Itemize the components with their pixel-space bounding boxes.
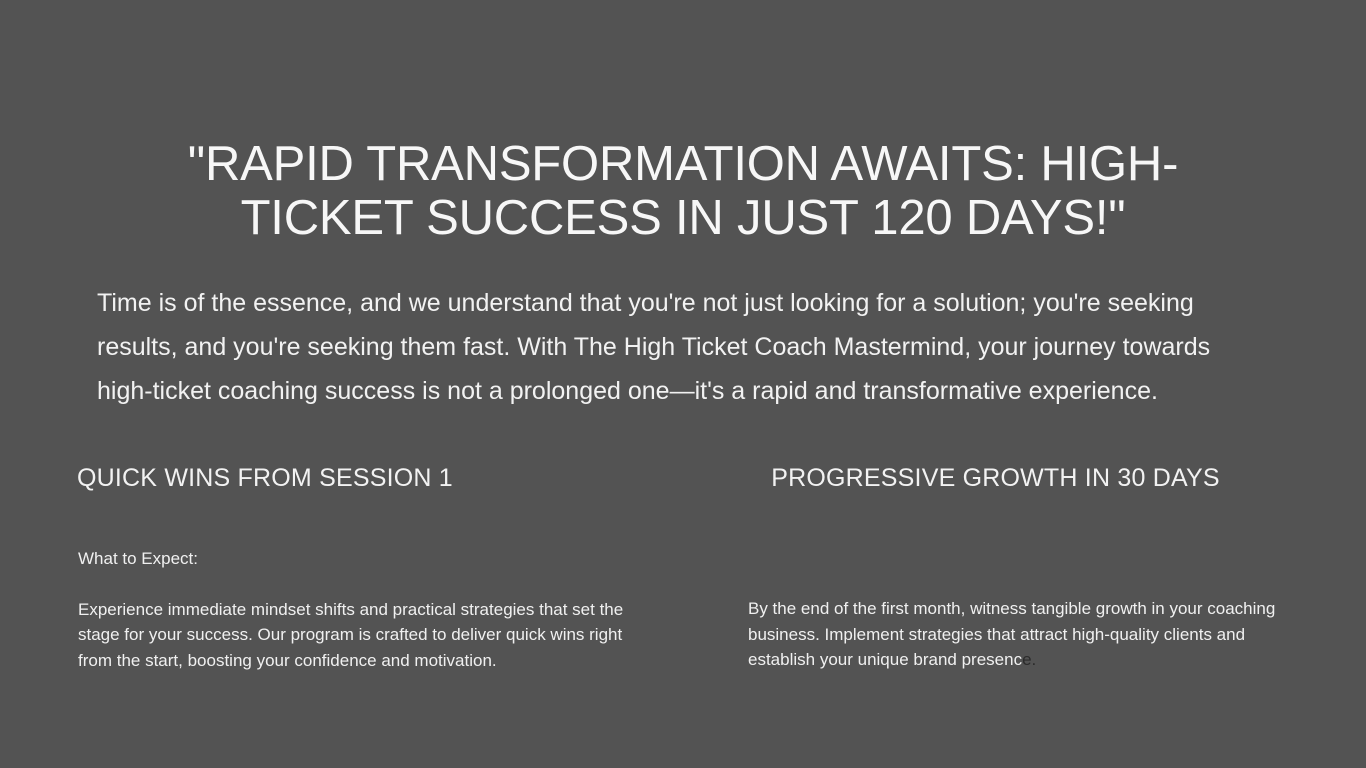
progressive-growth-body-text: By the end of the first month, witness t…	[748, 596, 1308, 673]
column-body-quick-wins: What to Expect: Experience immediate min…	[70, 546, 648, 673]
column-quick-wins: QUICK WINS FROM SESSION 1 What to Expect…	[70, 462, 685, 752]
intro-paragraph: Time is of the essence, and we understan…	[97, 281, 1272, 413]
progressive-growth-body-main: By the end of the first month, witness t…	[748, 599, 1275, 669]
slide-canvas: "RAPID TRANSFORMATION AWAITS: HIGH-TICKE…	[0, 0, 1366, 768]
column-progressive-growth: PROGRESSIVE GROWTH IN 30 DAYS By the end…	[690, 462, 1305, 752]
slide-title: "RAPID TRANSFORMATION AWAITS: HIGH-TICKE…	[120, 137, 1246, 245]
two-column-section: QUICK WINS FROM SESSION 1 What to Expect…	[0, 462, 1366, 752]
quick-wins-lead-label: What to Expect:	[78, 546, 648, 572]
quick-wins-body-text: Experience immediate mindset shifts and …	[78, 597, 648, 674]
column-body-progressive-growth: By the end of the first month, witness t…	[690, 596, 1308, 673]
column-heading-quick-wins: QUICK WINS FROM SESSION 1	[70, 462, 685, 494]
progressive-growth-body-tail: e.	[1022, 650, 1036, 669]
column-heading-progressive-growth: PROGRESSIVE GROWTH IN 30 DAYS	[690, 462, 1305, 494]
